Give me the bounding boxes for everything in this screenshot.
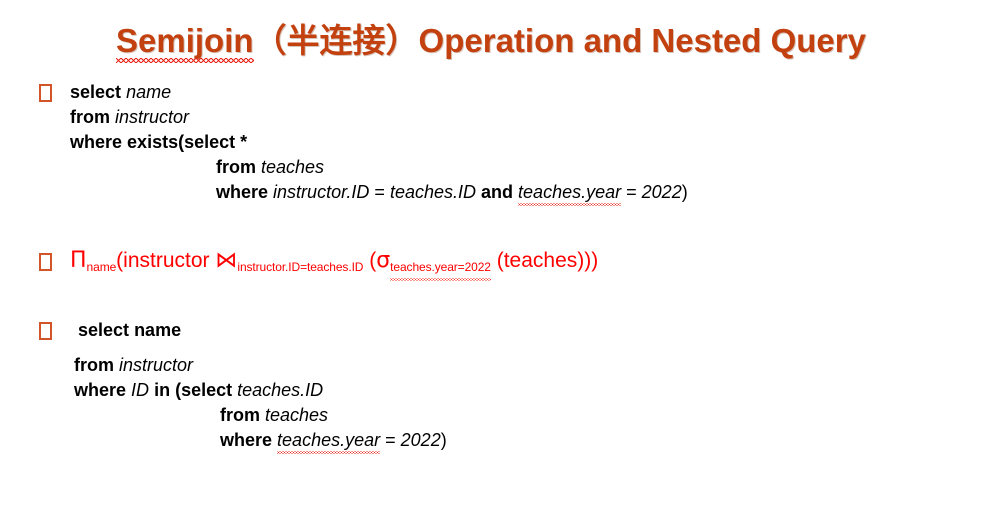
bullet-marker-1 bbox=[39, 84, 52, 102]
join-condition-subscript: instructor.ID=teaches.ID bbox=[237, 260, 363, 274]
keyword-from-3: from bbox=[74, 355, 114, 375]
keyword-select-inner-3: select bbox=[181, 380, 232, 400]
identifier-teaches-3: teaches bbox=[265, 405, 328, 425]
identifier-instructor: instructor bbox=[115, 107, 189, 127]
title-rest: Operation and Nested Query bbox=[419, 22, 866, 59]
sql-line-5: where instructor.ID = teaches.ID and tea… bbox=[70, 180, 688, 205]
semijoin-bowtie-icon: ⋈ bbox=[215, 248, 237, 273]
sql3-line-5: where teaches.year = 2022) bbox=[74, 428, 447, 453]
identifier-instructor-3: instructor bbox=[119, 355, 193, 375]
sql-line-3: where exists(select * bbox=[70, 130, 688, 155]
sql-block-exists: select name from instructor where exists… bbox=[70, 80, 688, 205]
identifier-teaches-id: teaches.ID bbox=[390, 182, 476, 202]
relation-teaches-closing: (teaches))) bbox=[497, 249, 599, 272]
sql-line-2: from instructor bbox=[70, 105, 688, 130]
identifier-teaches-year: teaches.year bbox=[518, 180, 621, 205]
keyword-exists: exists bbox=[127, 132, 178, 152]
sql3-line-4: from teaches bbox=[74, 403, 447, 428]
keyword-in: in bbox=[154, 380, 170, 400]
keyword-where-inner: where bbox=[216, 182, 268, 202]
literal-year-2022: 2022 bbox=[642, 182, 682, 202]
keyword-from-inner-3: from bbox=[220, 405, 260, 425]
operator-equals-1: = bbox=[374, 182, 385, 202]
identifier-instructor-id: instructor.ID bbox=[273, 182, 369, 202]
pi-subscript: name bbox=[87, 260, 117, 274]
identifier-teaches-id-3: teaches.ID bbox=[237, 380, 323, 400]
bullet-marker-2 bbox=[39, 253, 52, 271]
slide-canvas: Semijoin（半连接）Operation and Nested Query … bbox=[0, 0, 982, 506]
sql3-line-3: where ID in (select teaches.ID bbox=[74, 378, 447, 403]
bullet-marker-3 bbox=[39, 322, 52, 340]
pi-symbol: Π bbox=[70, 248, 87, 273]
operator-equals-3: = bbox=[385, 430, 396, 450]
identifier-teaches: teaches bbox=[261, 157, 324, 177]
page-title: Semijoin（半连接）Operation and Nested Query bbox=[0, 14, 982, 62]
paren-close: ) bbox=[682, 182, 688, 202]
keyword-from-inner: from bbox=[216, 157, 256, 177]
relational-algebra-expression: Πname(instructor ⋈instructor.ID=teaches.… bbox=[70, 248, 598, 276]
keyword-where-inner-3: where bbox=[220, 430, 272, 450]
keyword-select-3: select bbox=[78, 320, 129, 340]
identifier-id-3: ID bbox=[131, 380, 149, 400]
paren-close-3: ) bbox=[441, 430, 447, 450]
keyword-where-3: where bbox=[74, 380, 126, 400]
identifier-name: name bbox=[126, 82, 171, 102]
literal-year-2022-3: 2022 bbox=[401, 430, 441, 450]
keyword-from: from bbox=[70, 107, 110, 127]
keyword-select: select bbox=[70, 82, 121, 102]
sql3-line-2: from instructor bbox=[74, 353, 447, 378]
identifier-teaches-year-3: teaches.year bbox=[277, 428, 380, 453]
title-word-semijoin: Semijoin bbox=[116, 22, 254, 60]
sql-block-in-subquery: select name from instructor where ID in … bbox=[74, 318, 447, 453]
relation-instructor: instructor bbox=[123, 249, 209, 272]
operator-equals-2: = bbox=[626, 182, 637, 202]
sql3-line-1: select name bbox=[74, 318, 447, 343]
keyword-where: where bbox=[70, 132, 122, 152]
sql-line-4: from teaches bbox=[70, 155, 688, 180]
sigma-symbol: σ bbox=[376, 248, 390, 273]
title-cjk-text: （半连接） bbox=[254, 21, 419, 60]
sigma-condition-subscript: teaches.year=2022 bbox=[390, 254, 491, 280]
column-name-3: name bbox=[134, 320, 181, 340]
sql-line-1: select name bbox=[70, 80, 688, 105]
keyword-and: and bbox=[481, 182, 513, 202]
keyword-select-inner: select bbox=[184, 132, 235, 152]
star-glyph: * bbox=[240, 132, 247, 152]
